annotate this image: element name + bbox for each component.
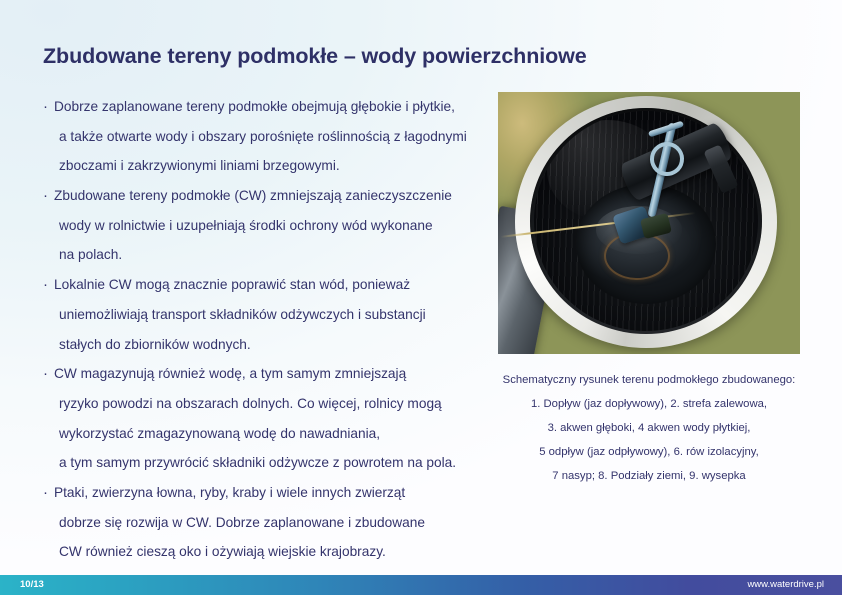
bullet-line: dobrze się rozwija w CW. Dobrze zaplanow… <box>41 508 491 538</box>
caption-line: 5 odpływ (jaz odpływowy), 6. rów izolacy… <box>478 440 820 464</box>
bullet-line: wykorzystać zmagazynowaną wodę do nawadn… <box>41 419 491 449</box>
bullet-line: CW magazynują również wodę, a tym samym … <box>41 359 491 389</box>
bullet-line: CW również cieszą oko i ożywiają wiejski… <box>41 537 491 567</box>
photo-caption: Schematyczny rysunek terenu podmokłego z… <box>478 368 820 488</box>
bullet-line: a także otwarte wody i obszary porośnięt… <box>41 122 491 152</box>
list-item: Dobrze zaplanowane tereny podmokłe obejm… <box>41 92 491 181</box>
bullet-list: Dobrze zaplanowane tereny podmokłe obejm… <box>41 92 491 567</box>
caption-line: 1. Dopływ (jaz dopływowy), 2. strefa zal… <box>478 392 820 416</box>
bullet-line: uniemożliwiają transport składników odży… <box>41 300 491 330</box>
caption-line: Schematyczny rysunek terenu podmokłego z… <box>478 368 820 392</box>
bullet-line: Ptaki, zwierzyna łowna, ryby, kraby i wi… <box>41 478 491 508</box>
list-item: Ptaki, zwierzyna łowna, ryby, kraby i wi… <box>41 478 491 567</box>
footer-bar: 10/13 www.waterdrive.pl <box>0 575 842 595</box>
bullet-line: Dobrze zaplanowane tereny podmokłe obejm… <box>41 92 491 122</box>
list-item: Lokalnie CW mogą znacznie poprawić stan … <box>41 270 491 359</box>
slide: Zbudowane tereny podmokłe – wody powierz… <box>0 0 842 595</box>
bullet-line: stałych do zbiorników wodnych. <box>41 330 491 360</box>
caption-line: 3. akwen głęboki, 4 akwen wody płytkiej, <box>478 416 820 440</box>
page-title: Zbudowane tereny podmokłe – wody powierz… <box>43 44 763 70</box>
bullet-line: zboczami i zakrzywionymi liniami brzegow… <box>41 151 491 181</box>
caption-line: 7 nasyp; 8. Podziały ziemi, 9. wysepka <box>478 464 820 488</box>
footer-website-link[interactable]: www.waterdrive.pl <box>747 575 824 595</box>
bullet-line: Lokalnie CW mogą znacznie poprawić stan … <box>41 270 491 300</box>
wetland-manhole-photo <box>498 92 800 354</box>
bullet-line: Zbudowane tereny podmokłe (CW) zmniejsza… <box>41 181 491 211</box>
bullet-line: a tym samym przywrócić składniki odżywcz… <box>41 448 491 478</box>
bullet-line: na polach. <box>41 240 491 270</box>
list-item: Zbudowane tereny podmokłe (CW) zmniejsza… <box>41 181 491 270</box>
bullet-line: ryzyko powodzi na obszarach dolnych. Co … <box>41 389 491 419</box>
bullet-line: wody w rolnictwie i uzupełniają środki o… <box>41 211 491 241</box>
page-number: 10/13 <box>20 575 44 595</box>
photo-surface <box>498 92 800 354</box>
list-item: CW magazynują również wodę, a tym samym … <box>41 359 491 478</box>
